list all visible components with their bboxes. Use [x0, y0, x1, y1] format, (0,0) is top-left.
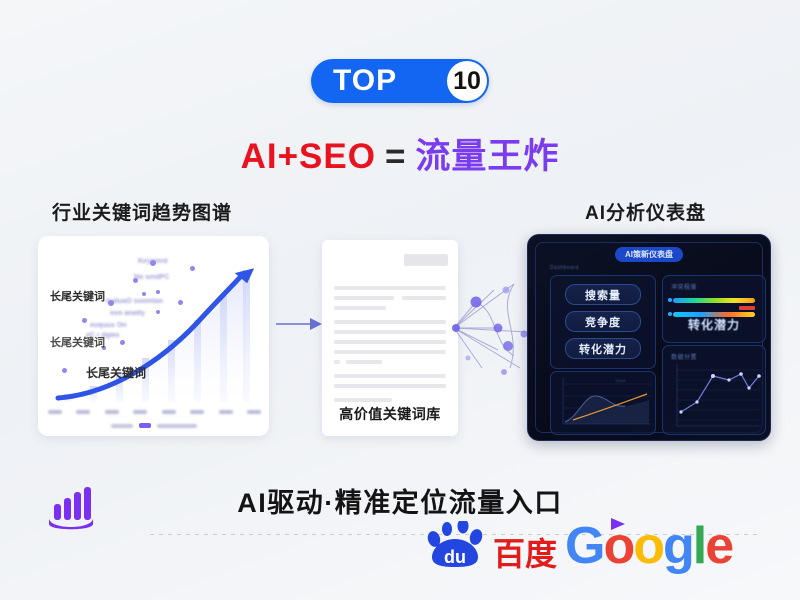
- area-chart-panel: Trend: [550, 371, 656, 435]
- top-label: TOP: [333, 66, 397, 96]
- baidu-mark-text: du: [444, 547, 466, 567]
- headline-right: 流量王炸: [415, 137, 559, 176]
- google-letter-o2: o: [633, 517, 663, 575]
- cluster-dot: [142, 292, 146, 296]
- headline-equals: =: [385, 137, 406, 176]
- baidu-wordmark: 百度: [493, 536, 557, 569]
- chart-legend: [38, 423, 269, 428]
- ai-dashboard: AI策新仪表盘 Dashboard 搜索量 竞争度 转化潜力 冲突程度 转化潜力: [527, 234, 771, 441]
- baidu-logo: du 百度: [423, 521, 558, 569]
- doc-header-block: [404, 254, 448, 266]
- top-rank-badge: TOP 10: [311, 59, 489, 103]
- cluster-dot: [62, 368, 67, 373]
- metric-competition[interactable]: 竞争度: [565, 311, 641, 332]
- headline-left: AI+SEO: [241, 137, 376, 176]
- metrics-panel: 搜索量 竞争度 转化潜力: [550, 275, 656, 369]
- poster-stage: TOP 10 AI+SEO=流量王炸 行业关键词趋势图谱 AI分析仪表盘: [0, 0, 800, 600]
- google-letter-g1: G: [565, 517, 603, 575]
- gauge-panel: 冲突程度 转化潜力: [662, 275, 766, 343]
- metric-conversion[interactable]: 转化潜力: [565, 338, 641, 359]
- keyword-label: 长尾关键词: [50, 334, 105, 350]
- blur-text: ovo anatty: [110, 310, 145, 317]
- legend-swatch: [139, 423, 151, 428]
- rank-number: 10: [453, 69, 481, 94]
- google-letter-o1: o: [603, 517, 633, 575]
- blur-text: loaluaO soomtan: [106, 298, 163, 305]
- gauge-marker: [739, 306, 755, 310]
- right-section-caption: AI分析仪表盘: [585, 198, 706, 225]
- keyword-trend-chart-card: Keyword No sindPC loaluaO soomtan ovo an…: [38, 236, 269, 436]
- blur-text: euquus On: [90, 322, 127, 329]
- google-letter-g2: g: [663, 517, 693, 575]
- google-letter-e: e: [705, 517, 732, 575]
- blur-text: No sindPC: [134, 274, 169, 281]
- keyword-label: 长尾关键词: [86, 364, 146, 381]
- page-title: AI+SEO=流量王炸: [0, 128, 800, 179]
- gauge-panel-title: 冲突程度: [671, 282, 697, 291]
- cluster-dot: [156, 310, 160, 314]
- conversion-overlay-label: 转化潜力: [663, 316, 765, 333]
- cluster-dot: [156, 290, 160, 294]
- legend-placeholder: [157, 424, 197, 428]
- dashboard-title: AI策新仪表盘: [615, 247, 683, 262]
- cluster-dot: [82, 318, 87, 323]
- dashboard-screen: AI策新仪表盘 Dashboard 搜索量 竞争度 转化潜力 冲突程度 转化潜力: [535, 242, 763, 433]
- line-chart-panel: 数据分置: [662, 345, 766, 435]
- dashboard-subtitle: Dashboard: [550, 265, 579, 271]
- left-section-caption: 行业关键词趋势图谱: [52, 198, 232, 225]
- flow-arrow-icon: [276, 316, 322, 332]
- bar-chart-icon: [45, 484, 97, 532]
- area-chart: [551, 372, 655, 434]
- blur-text: Keyword: [138, 258, 168, 265]
- rank-number-circle: 10: [447, 61, 487, 101]
- google-letter-l: l: [693, 517, 705, 575]
- gauge-dot: [668, 298, 672, 302]
- document-label: 高价值关键词库: [322, 404, 458, 424]
- cluster-dot: [178, 300, 183, 305]
- keyword-label: 长尾关键词: [50, 288, 105, 304]
- footer-tagline: AI驱动·精准定位流量入口: [0, 481, 800, 520]
- cluster-dot: [190, 266, 195, 271]
- line-panel-title: 数据分置: [671, 352, 697, 361]
- cluster-dot: [120, 340, 125, 345]
- google-logo: Google: [565, 520, 732, 572]
- legend-placeholder: [111, 424, 133, 428]
- metric-search-volume[interactable]: 搜索量: [565, 284, 641, 305]
- x-axis-ticks: [48, 410, 261, 414]
- gradient-bar: [673, 298, 755, 303]
